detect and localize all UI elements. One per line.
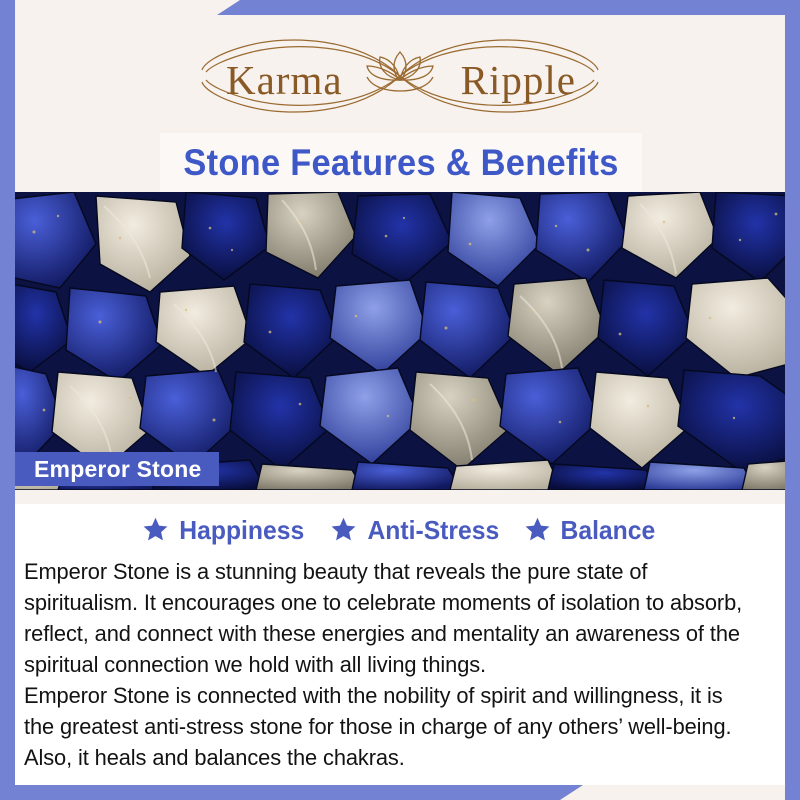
benefit-label: Happiness: [179, 517, 304, 543]
stone-name-label: Emperor Stone: [34, 456, 201, 483]
benefit-label: Balance: [561, 517, 656, 543]
frame-bottom-edge: [0, 785, 800, 800]
status-badge: Emperor Stone: [15, 452, 219, 486]
headline-band: Stone Features & Benefits: [160, 133, 642, 192]
benefit-label: Anti-Stress: [367, 517, 499, 543]
brand-name-right: Ripple: [461, 60, 576, 101]
description-paragraph-1: Emperor Stone is a stunning beauty that …: [24, 556, 757, 680]
frame-top-edge: [0, 0, 800, 15]
stone-photo: [0, 192, 800, 490]
panel-divider: [15, 490, 785, 504]
benefit-item-anti-stress: Anti-Stress: [330, 516, 503, 543]
benefit-item-balance: Balance: [524, 516, 658, 543]
brand-name-left: Karma: [226, 60, 343, 101]
benefit-item-happiness: Happiness: [142, 516, 308, 543]
star-icon: [142, 516, 169, 543]
description-text: Emperor Stone is a stunning beauty that …: [24, 556, 780, 773]
page-title: Stone Features & Benefits: [183, 142, 618, 184]
star-icon: [524, 516, 551, 543]
benefits-row: Happiness Anti-Stress Balance: [0, 516, 800, 543]
product-info-card: Karma Ripple Stone Features & Benefits: [0, 0, 800, 800]
description-paragraph-2: Emperor Stone is connected with the nobi…: [24, 680, 757, 773]
brand-logo: Karma Ripple: [0, 26, 800, 126]
star-icon: [330, 516, 357, 543]
